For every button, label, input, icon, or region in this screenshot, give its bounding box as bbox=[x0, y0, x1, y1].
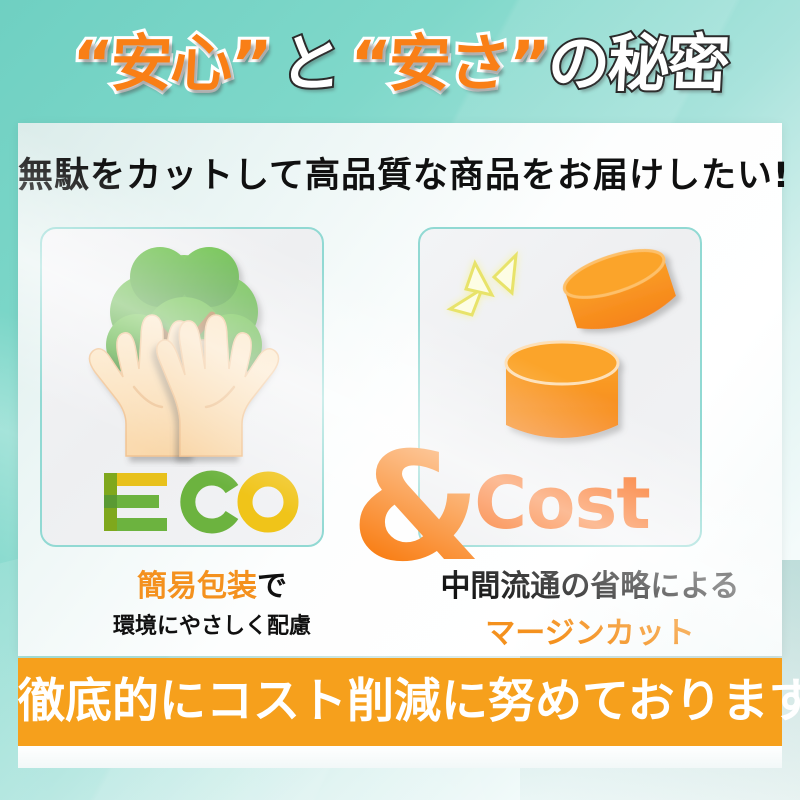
bottom-banner: 徹底的にコスト削減に努めております bbox=[18, 658, 782, 746]
hands-holding-tree-icon bbox=[42, 237, 326, 467]
caption-eco-sub: 環境にやさしく配慮 bbox=[22, 608, 402, 640]
headline-part-himitsu: の秘密 bbox=[545, 14, 730, 114]
caption-cost-sub: マージンカット bbox=[400, 608, 780, 652]
eco-letter-e bbox=[104, 473, 167, 531]
coin-stack bbox=[506, 342, 618, 438]
caption-cost: 中間流通の省略による マージンカット bbox=[400, 561, 780, 652]
sparkle-rays bbox=[450, 255, 516, 315]
eco-wordmark bbox=[42, 469, 326, 535]
content-panel: 無駄をカットして高品質な商品をお届けしたい! bbox=[18, 123, 782, 656]
banner-footer-strip bbox=[18, 746, 782, 768]
card-eco bbox=[40, 227, 324, 547]
caption-eco: 簡易包装で 環境にやさしく配慮 bbox=[22, 561, 402, 640]
eco-letter-c bbox=[188, 478, 232, 526]
caption-cost-main: 中間流通の省略による bbox=[400, 561, 780, 605]
caption-eco-main: 簡易包装で bbox=[22, 561, 402, 605]
eco-letter-o bbox=[245, 479, 291, 525]
caption-eco-main-tail: で bbox=[257, 569, 287, 604]
headline-part-anshin: “安心” bbox=[70, 14, 273, 114]
headline: “安心”と“安さ”の秘密 bbox=[0, 14, 800, 114]
headline-part-to: と bbox=[277, 14, 342, 114]
subtitle: 無駄をカットして高品質な商品をお届けしたい! bbox=[18, 147, 782, 198]
caption-eco-main-highlight: 簡易包装 bbox=[137, 569, 257, 604]
coin-lid bbox=[559, 241, 680, 340]
headline-part-yasusa: “安さ” bbox=[347, 14, 550, 114]
